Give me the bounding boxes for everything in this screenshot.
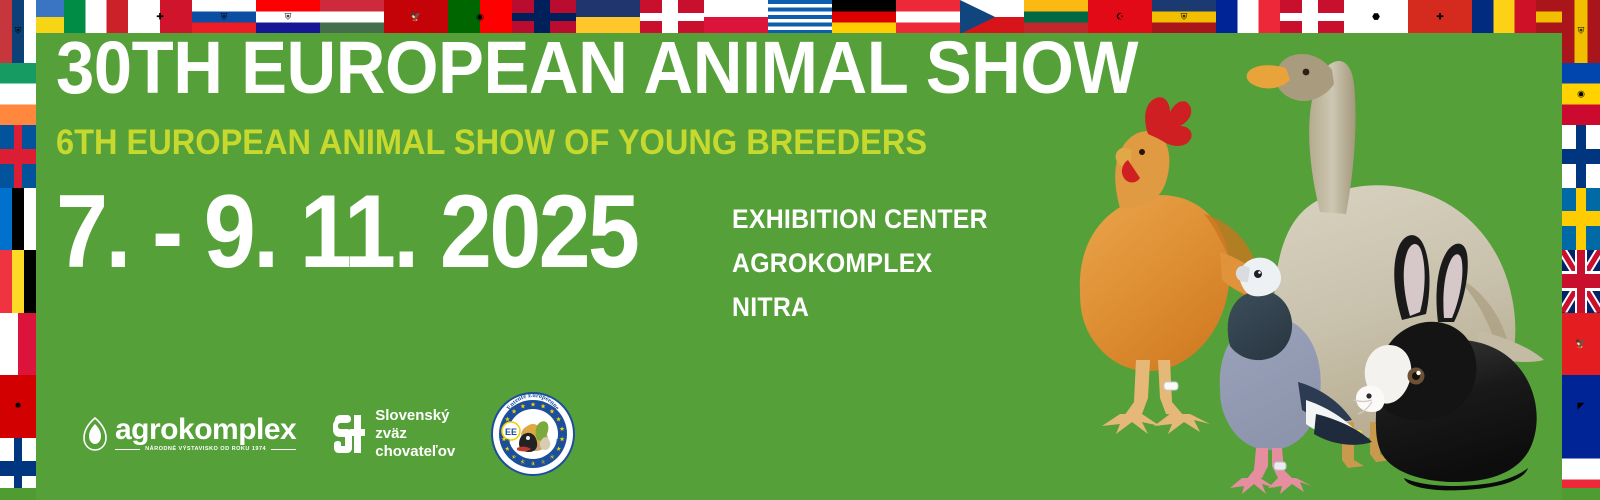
flag-poland-2 <box>0 313 36 376</box>
flag-emblem: 🦅 <box>410 13 421 22</box>
flag-emblem: ◉ <box>476 13 484 22</box>
szch-monogram-icon <box>332 414 366 454</box>
venue-line-3: NITRA <box>732 286 988 330</box>
flag-emblem: ⛨ <box>221 13 228 22</box>
flag-strip-right: ⛨◉🦅◤ <box>1562 0 1600 500</box>
agrokomplex-wordmark: agrokomplex <box>115 416 296 444</box>
szch-line-2: zväz <box>375 425 455 443</box>
flag-emblem: ◉ <box>1577 89 1585 98</box>
ee-roundel-icon: EE Entente Européenne d'Aviculture et de… <box>491 392 575 476</box>
flag-bosnia: ◤ <box>1562 375 1600 438</box>
date-venue-row: 7. - 9. 11. 2025 EXHIBITION CENTER AGROK… <box>56 186 1219 329</box>
flag-switzerland: ✚ <box>1408 0 1472 34</box>
flag-sweden <box>1562 188 1600 251</box>
flag-france <box>1216 0 1280 34</box>
flag-emblem: ◤ <box>1578 402 1585 411</box>
flag-spain-alt: ⛨ <box>1152 0 1216 34</box>
szch-line-1: Slovenský <box>375 407 455 425</box>
szch-text-block: Slovenský zväz chovateľov <box>375 407 455 462</box>
flag-united-kingdom <box>1562 250 1600 313</box>
flag-belgium <box>0 250 36 313</box>
venue-line-1: EXHIBITION CENTER <box>732 198 988 242</box>
logo-entente-europeenne[interactable]: EE Entente Européenne d'Aviculture et de… <box>491 392 575 476</box>
flag-strip-left: ⛨✸ <box>0 0 36 500</box>
flag-emblem: ⛨ <box>15 27 22 36</box>
logo-row: agrokomplex NÁRODNÉ VÝSTAVISKO OD ROKU 1… <box>82 392 575 476</box>
agrokomplex-tagline: NÁRODNÉ VÝSTAVISKO OD ROKU 1974 <box>145 446 266 452</box>
flag-emblem: ⛨ <box>1578 27 1585 36</box>
flag-ireland <box>0 63 36 126</box>
page-title: 30TH EUROPEAN ANIMAL SHOW <box>56 32 1138 103</box>
flag-finland-2 <box>1562 125 1600 188</box>
flag-spain-2: ⛨ <box>1562 0 1600 63</box>
flag-moldova: ◉ <box>1562 63 1600 126</box>
flag-emblem: 🦅 <box>1575 339 1586 348</box>
banner-text-block: 30TH EUROPEAN ANIMAL SHOW 6TH EUROPEAN A… <box>56 32 1219 329</box>
banner-subtitle: 6TH EUROPEAN ANIMAL SHOW OF YOUNG BREEDE… <box>56 125 1138 160</box>
flag-emblem: ✚ <box>1436 13 1444 22</box>
flag-emblem: ✸ <box>14 402 22 411</box>
flag-albania: 🦅 <box>1562 313 1600 376</box>
ee-abbr: EE <box>505 427 517 437</box>
flag-romania <box>1472 0 1536 34</box>
szch-line-3: chovateľov <box>375 443 455 461</box>
flag-estonia <box>0 188 36 251</box>
flag-emblem: ⛨ <box>1181 13 1188 22</box>
tagline-rule-right <box>271 449 296 450</box>
event-banner: ✚⛨⛨🦅◉☪⛨⬣✚⛨ ⛨✸ ⛨◉🦅◤ <box>0 0 1600 500</box>
logo-szch[interactable]: Slovenský zväz chovateľov <box>332 407 455 462</box>
flag-iceland <box>0 125 36 188</box>
leaf-shield-icon <box>82 417 108 451</box>
venue-line-2: AGROKOMPLEX <box>732 242 988 286</box>
venue-block: EXHIBITION CENTER AGROKOMPLEX NITRA <box>732 198 988 329</box>
logo-agrokomplex[interactable]: agrokomplex NÁRODNÉ VÝSTAVISKO OD ROKU 1… <box>82 416 296 453</box>
agrokomplex-tagline-row: NÁRODNÉ VÝSTAVISKO OD ROKU 1974 <box>115 446 296 452</box>
tagline-rule-left <box>115 449 140 450</box>
flag-emblem: ⛨ <box>285 13 292 22</box>
flag-emblem: ⬣ <box>1372 13 1380 22</box>
flag-denmark-2 <box>1280 0 1344 34</box>
event-dates: 7. - 9. 11. 2025 <box>56 186 637 280</box>
flag-emblem: ✚ <box>156 13 164 22</box>
flag-serbia: ⛨ <box>0 0 36 63</box>
flag-macedonia: ✸ <box>0 375 36 438</box>
flag-emblem: ☪ <box>1116 13 1124 22</box>
flag-cyprus: ⬣ <box>1344 0 1408 34</box>
